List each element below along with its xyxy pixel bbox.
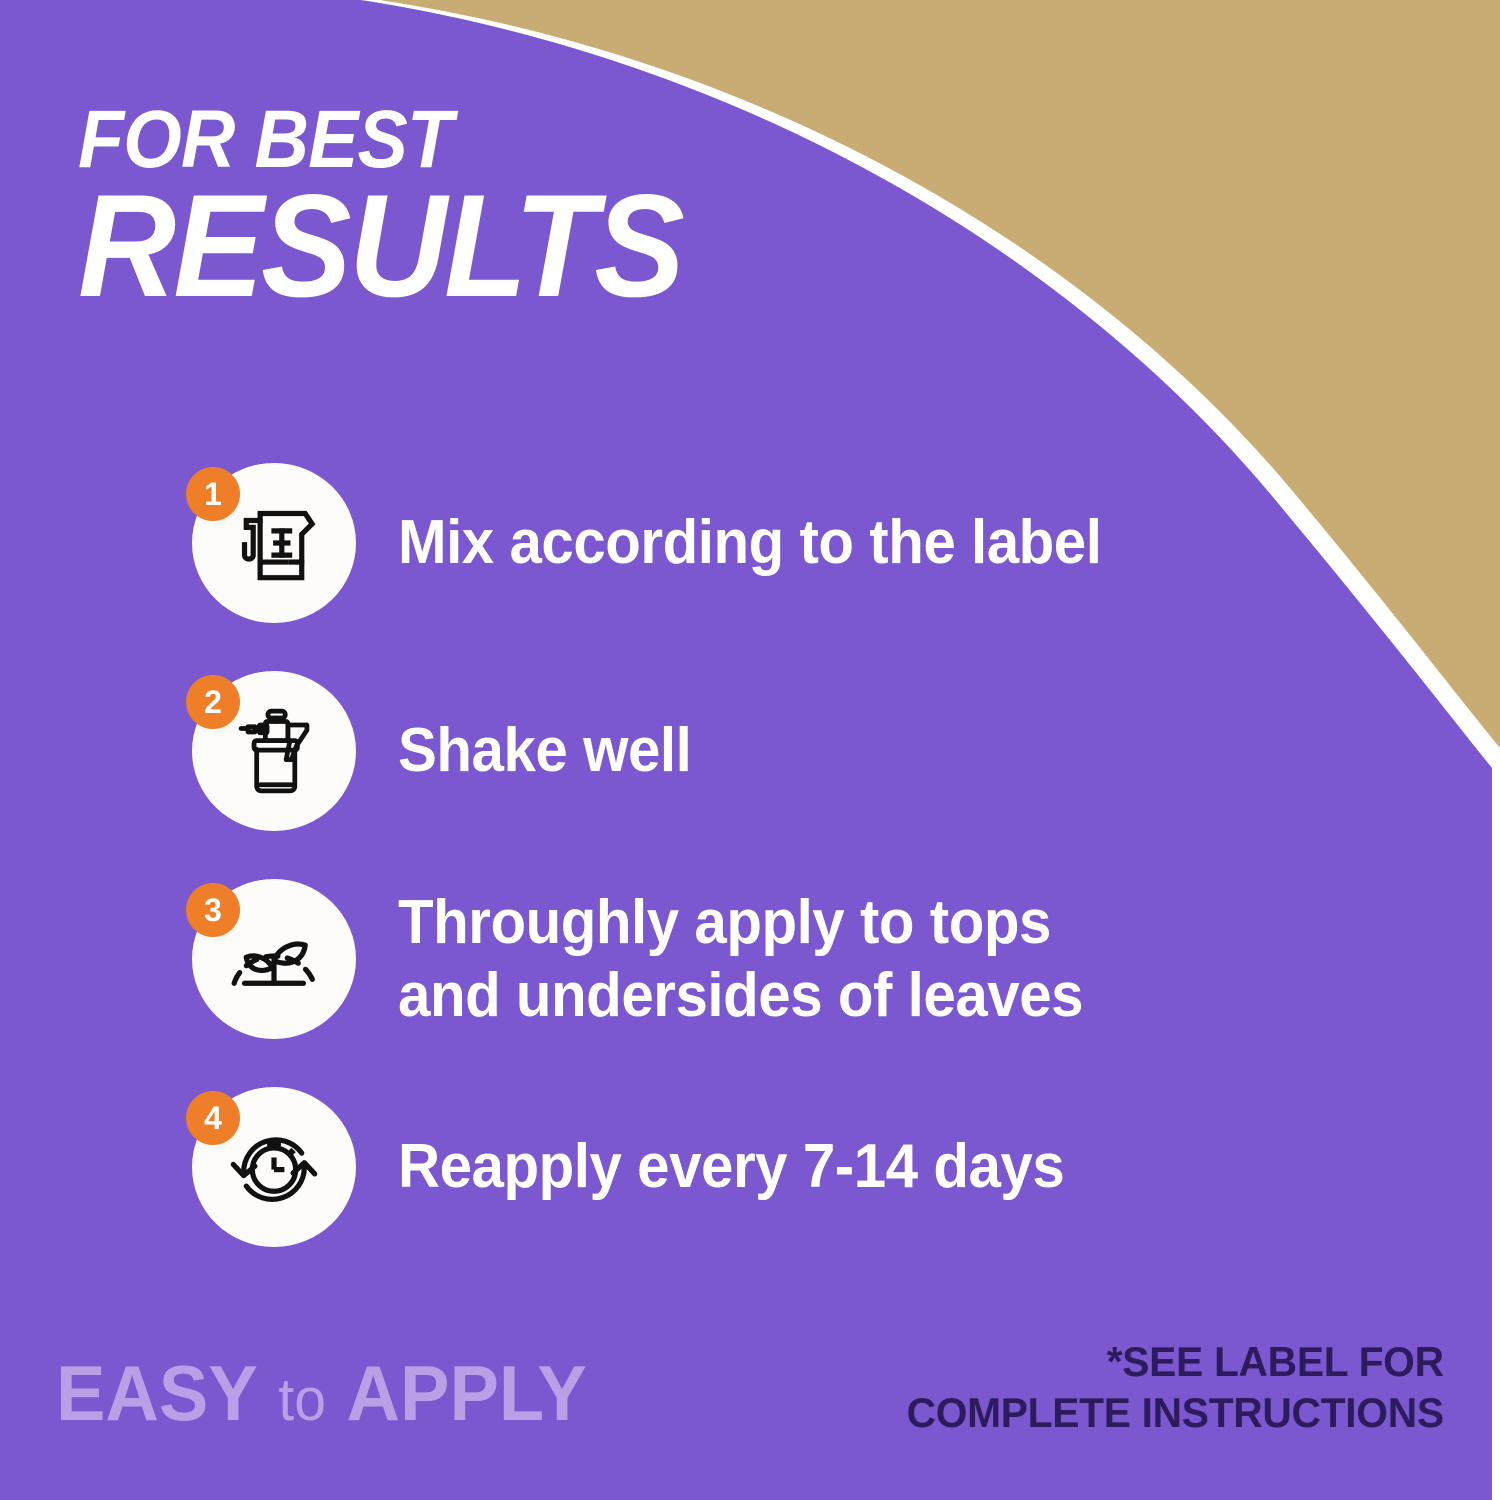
tagline-apply: APPLY: [347, 1349, 587, 1437]
step-2-label: Shake well: [398, 714, 691, 787]
title-line-2: RESULTS: [78, 182, 682, 310]
step-3-label: Throughly apply to tops and undersides o…: [398, 886, 1083, 1032]
label-disclaimer: *SEE LABEL FOR COMPLETE INSTRUCTIONS: [907, 1336, 1444, 1438]
step-2-icon-wrap: 2: [186, 671, 358, 831]
step-4-number-badge: 4: [186, 1091, 240, 1145]
step-4-label: Reapply every 7-14 days: [398, 1130, 1064, 1203]
step-3-number-badge: 3: [186, 883, 240, 937]
step-4-icon-wrap: 4: [186, 1087, 358, 1247]
page-title: FOR BEST RESULTS: [78, 104, 728, 311]
list-item: 4 Reapply every 7-14 days: [186, 1084, 1366, 1250]
tagline-easy: EASY: [56, 1349, 258, 1437]
list-item: 3 Throughly apply to tops and undersides…: [186, 876, 1366, 1042]
step-1-number-badge: 1: [186, 467, 240, 521]
easy-to-apply-tagline: EASY to APPLY: [56, 1354, 587, 1432]
steps-list: 1 Mix according to the label: [186, 460, 1366, 1250]
list-item: 1 Mix according to the label: [186, 460, 1366, 626]
list-item: 2 Shake well: [186, 668, 1366, 834]
measuring-jug-icon: [222, 491, 326, 595]
stopwatch-refresh-icon: [222, 1115, 326, 1219]
step-2-number-badge: 2: [186, 675, 240, 729]
tagline-to: to: [278, 1366, 326, 1433]
seedling-dome-icon: [222, 907, 326, 1011]
step-1-label: Mix according to the label: [398, 506, 1101, 579]
infographic-poster: FOR BEST RESULTS: [0, 0, 1500, 1500]
step-3-icon-wrap: 3: [186, 879, 358, 1039]
pump-sprayer-icon: [222, 699, 326, 803]
step-1-icon-wrap: 1: [186, 463, 358, 623]
